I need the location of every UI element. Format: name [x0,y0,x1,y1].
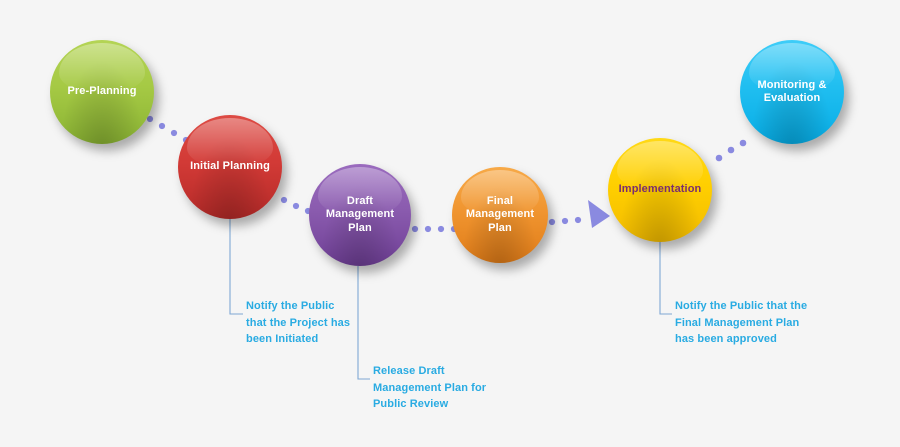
node-label-monitoring-evaluation: Monitoring & Evaluation [740,79,844,106]
node-label-implementation: Implementation [613,183,708,196]
arrowhead-icon [588,200,610,228]
node-final-management-plan[interactable]: Final Management Plan [452,167,548,263]
connector-dots-1 [147,116,189,143]
node-draft-management-plan[interactable]: Draft Management Plan [309,164,411,266]
connector-dots-3 [412,226,457,232]
callout-draft-plan: Release Draft Management Plan for Public… [373,363,523,413]
node-initial-planning[interactable]: Initial Planning [178,115,282,219]
node-label-initial-planning: Initial Planning [184,160,276,173]
node-label-draft-management-plan: Draft Management Plan [309,195,411,235]
callout-initial-planning: Notify the Public that the Project has b… [246,298,386,348]
connector-dots-4 [549,217,581,225]
process-flow-diagram: Pre-Planning Initial Planning Draft Mana… [0,0,900,447]
node-label-pre-planning: Pre-Planning [61,85,142,98]
callout-implementation: Notify the Public that the Final Managem… [675,298,835,348]
connector-dots-2 [281,197,311,214]
leader-line-implementation [660,242,672,314]
node-pre-planning[interactable]: Pre-Planning [50,40,154,144]
leader-line-initial-planning [230,219,243,314]
connector-dots-5 [716,140,747,162]
node-monitoring-evaluation[interactable]: Monitoring & Evaluation [740,40,844,144]
node-label-final-management-plan: Final Management Plan [452,195,548,235]
node-implementation[interactable]: Implementation [608,138,712,242]
